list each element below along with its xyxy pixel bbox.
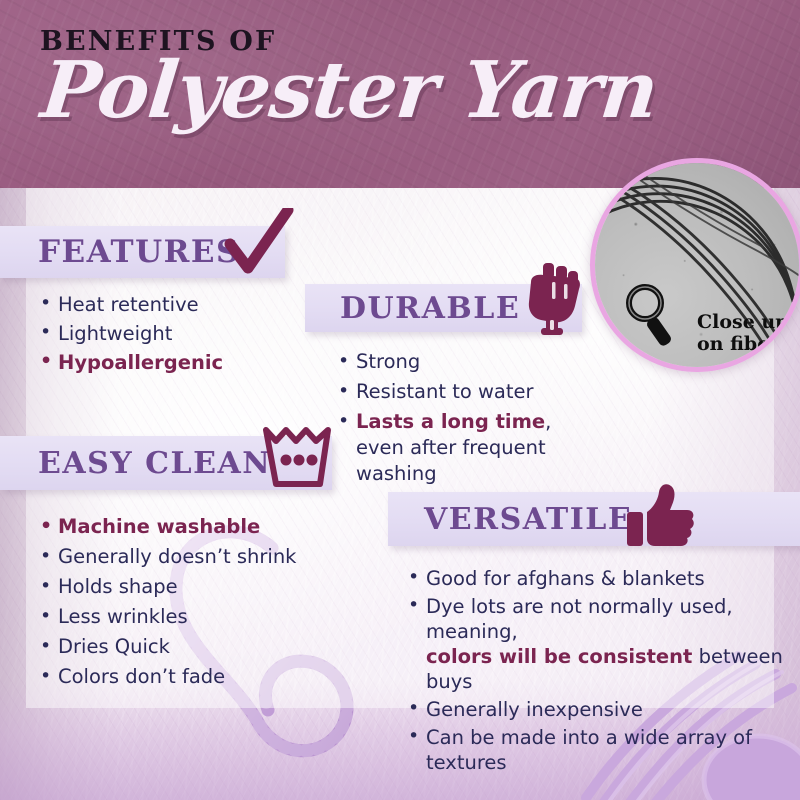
thumbs-up-icon [627, 484, 695, 550]
list-item: Lasts a long time, even after frequent w… [338, 409, 588, 487]
list-item: Strong [338, 349, 588, 375]
closeup-caption: Close up on fibers [697, 311, 790, 355]
list-item: Machine washable [40, 514, 340, 540]
list-item: Colors don’t fade [40, 664, 340, 690]
list-item: Generally inexpensive [408, 697, 788, 722]
list-item: Holds shape [40, 574, 340, 600]
list-item: Hypoallergenic [40, 350, 300, 375]
section-header-versatile: VERSATILE [388, 492, 800, 546]
section-label-durable: DURABLE [340, 291, 520, 326]
checkmark-icon [222, 208, 294, 280]
bullet-list-features: Heat retentive Lightweight Hypoallergeni… [40, 292, 300, 379]
list-item: Can be made into a wide array of texture… [408, 725, 788, 775]
list-item: Generally doesn’t shrink [40, 544, 340, 570]
bullet-list-durable: Strong Resistant to water Lasts a long t… [338, 349, 588, 491]
section-label-easyclean: EASY CLEAN [38, 446, 271, 481]
closeup-caption-line1: Close up [697, 311, 790, 333]
list-item: Resistant to water [338, 379, 588, 405]
bullet-list-versatile: Good for afghans & blankets Dye lots are… [408, 566, 788, 778]
closeup-badge: Close up on fibers [590, 158, 800, 372]
bullet-list-easyclean: Machine washable Generally doesn’t shrin… [40, 514, 340, 694]
page-title: Polyester Yarn [38, 52, 661, 130]
section-label-versatile: VERSATILE [424, 502, 632, 537]
section-label-features: FEATURES [38, 234, 240, 270]
list-item: Good for afghans & blankets [408, 566, 788, 591]
closeup-caption-line2: on fibers [697, 333, 790, 355]
washing-tub-icon [262, 424, 334, 490]
list-item: Dries Quick [40, 634, 340, 660]
list-item: Less wrinkles [40, 604, 340, 630]
infographic-poster: BENEFITS OF Polyester Yarn [0, 0, 800, 800]
fist-icon [519, 262, 581, 336]
magnifying-glass-icon [623, 281, 681, 351]
list-item: Heat retentive [40, 292, 300, 317]
list-item: Lightweight [40, 321, 300, 346]
list-item: Dye lots are not normally used, meaning,… [408, 594, 788, 694]
